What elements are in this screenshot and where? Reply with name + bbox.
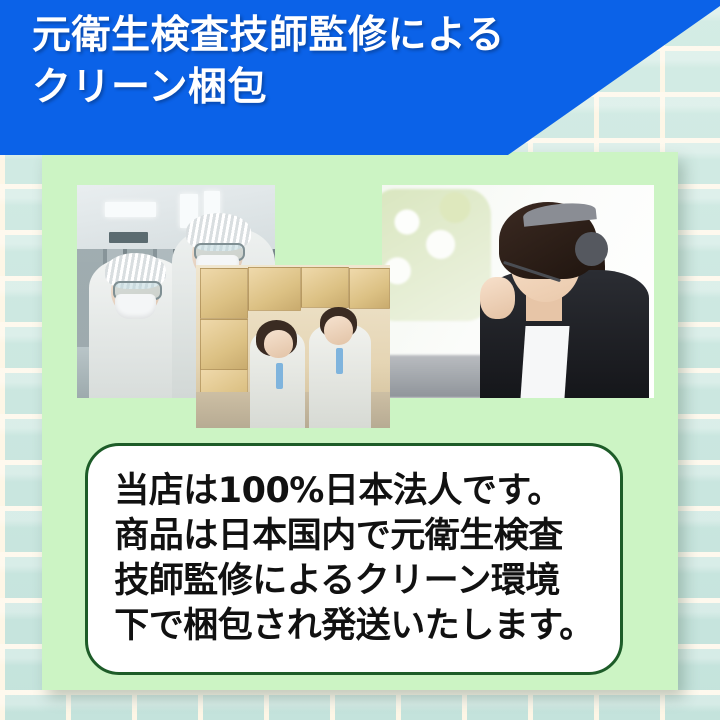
call-center-operator-photo (382, 185, 654, 398)
message-box: 当店は100%日本法人です。 商品は日本国内で元衛生検査 技師監修によるクリーン… (85, 443, 623, 675)
promotional-banner-page: 元衛生検査技師監修による クリーン梱包 (0, 0, 720, 720)
cardboard-box (200, 268, 249, 319)
operator-shirt (521, 326, 570, 398)
ceiling-vent-icon (109, 232, 149, 243)
message-text: 当店は100%日本法人です。 商品は日本国内で元衛生検査 技師監修によるクリーン… (102, 469, 606, 648)
decorative-plant (382, 189, 491, 321)
worker-lanyard (276, 363, 283, 389)
worker-face (264, 330, 293, 358)
cardboard-box (248, 267, 300, 311)
cardboard-box (301, 267, 350, 308)
cardboard-box (200, 319, 249, 370)
cardboard-box (349, 268, 390, 309)
warehouse-packing-photo (196, 265, 390, 428)
headset-earpiece-icon (575, 232, 608, 266)
ceiling-light-icon (105, 202, 156, 217)
operator-hand (480, 277, 515, 320)
header-title: 元衛生検査技師監修による クリーン梱包 (32, 10, 505, 114)
worker-face (324, 316, 353, 345)
worker-necktie (336, 348, 343, 374)
face-mask-icon (115, 294, 157, 320)
